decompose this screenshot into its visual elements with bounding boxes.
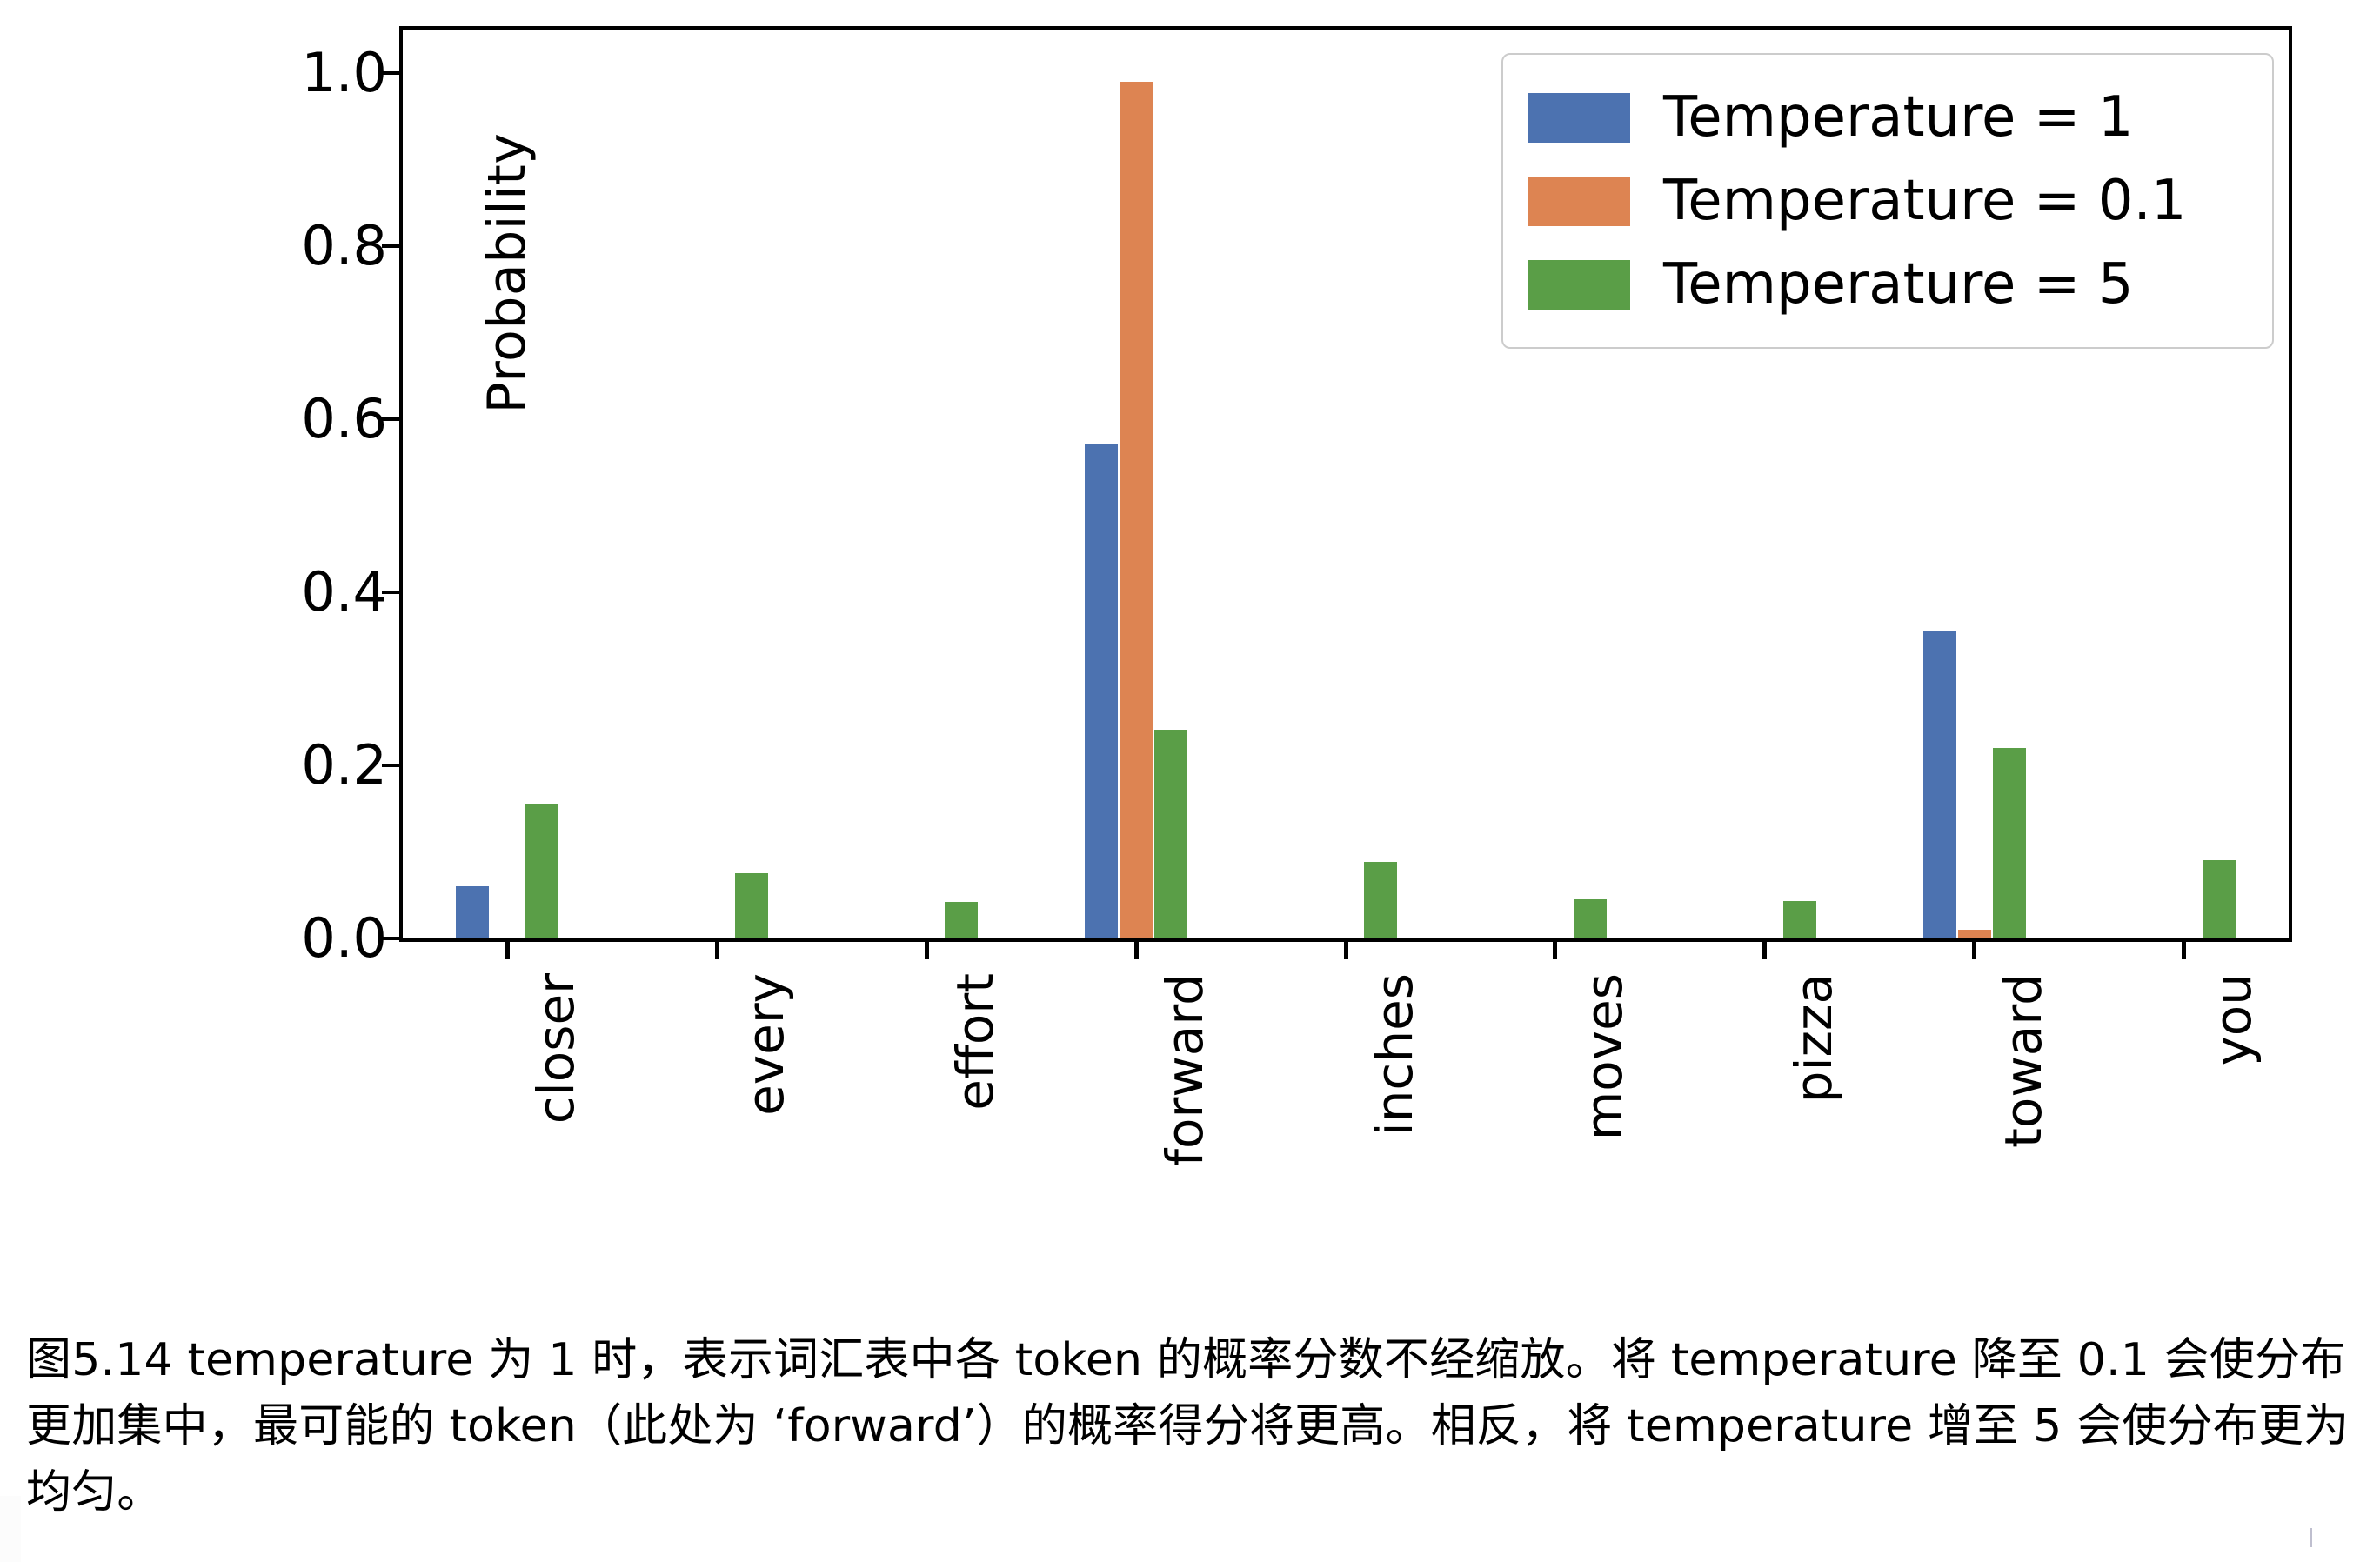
- x-axis-tick-label: you: [2203, 973, 2263, 1066]
- bar: [945, 902, 978, 938]
- x-axis-tick-mark: [505, 938, 510, 959]
- legend-item: Temperature = 1: [1528, 76, 2246, 159]
- bar: [456, 886, 489, 938]
- bar: [1958, 930, 1991, 938]
- bar: [1993, 748, 2026, 938]
- page-corner-marker: [2310, 1528, 2312, 1547]
- bar: [1574, 899, 1607, 938]
- legend-item-label: Temperature = 0.1: [1663, 173, 2187, 229]
- bar: [1923, 631, 1956, 938]
- y-axis-tick-label: 0.4: [301, 565, 387, 619]
- x-axis-tick-label: effort: [946, 973, 1005, 1111]
- y-axis-tick-label: 0.0: [301, 911, 387, 965]
- x-axis-tick-label: pizza: [1784, 973, 1843, 1103]
- bar: [2203, 860, 2236, 938]
- chart-plot-frame: Probability 0.00.20.40.60.81.0closerever…: [399, 26, 2292, 942]
- x-axis-tick-mark: [1134, 938, 1139, 959]
- legend-item-label: Temperature = 1: [1663, 90, 2133, 145]
- x-axis-tick-mark: [715, 938, 719, 959]
- x-axis-tick-label: closer: [526, 973, 585, 1124]
- x-axis-tick-label: inches: [1365, 973, 1424, 1136]
- x-axis-tick-mark: [1553, 938, 1557, 959]
- x-axis-tick-label: forward: [1155, 973, 1214, 1166]
- page-edge-strip: [0, 1496, 21, 1562]
- legend-item: Temperature = 5: [1528, 243, 2246, 326]
- legend-color-swatch: [1528, 177, 1630, 226]
- figure-caption: 图5.14 temperature 为 1 时，表示词汇表中各 token 的概…: [26, 1328, 2363, 1526]
- x-axis-tick-mark: [2182, 938, 2186, 959]
- figure-container: Probability 0.00.20.40.60.81.0closerever…: [0, 0, 2380, 1287]
- y-axis-tick-label: 1.0: [301, 46, 387, 100]
- legend-color-swatch: [1528, 93, 1630, 143]
- x-axis-tick-mark: [1972, 938, 1976, 959]
- bar: [735, 873, 768, 938]
- x-axis-tick-mark: [925, 938, 929, 959]
- bar: [1120, 82, 1153, 938]
- bar: [1154, 730, 1187, 938]
- x-axis-tick-label: toward: [1994, 973, 2053, 1148]
- chart-legend: Temperature = 1Temperature = 0.1Temperat…: [1501, 53, 2274, 349]
- y-axis-tick-label: 0.6: [301, 392, 387, 446]
- x-axis-tick-mark: [1344, 938, 1348, 959]
- legend-item-label: Temperature = 5: [1663, 257, 2133, 312]
- bar: [1085, 444, 1118, 938]
- bar: [1364, 862, 1397, 938]
- x-axis-tick-label: every: [736, 973, 795, 1116]
- x-axis-tick-mark: [1762, 938, 1767, 959]
- x-axis-tick-label: moves: [1574, 973, 1634, 1140]
- legend-color-swatch: [1528, 260, 1630, 310]
- bar: [525, 804, 558, 938]
- y-axis-tick-label: 0.2: [301, 738, 387, 792]
- y-axis-tick-label: 0.8: [301, 219, 387, 273]
- bar: [1783, 901, 1816, 938]
- legend-item: Temperature = 0.1: [1528, 159, 2246, 243]
